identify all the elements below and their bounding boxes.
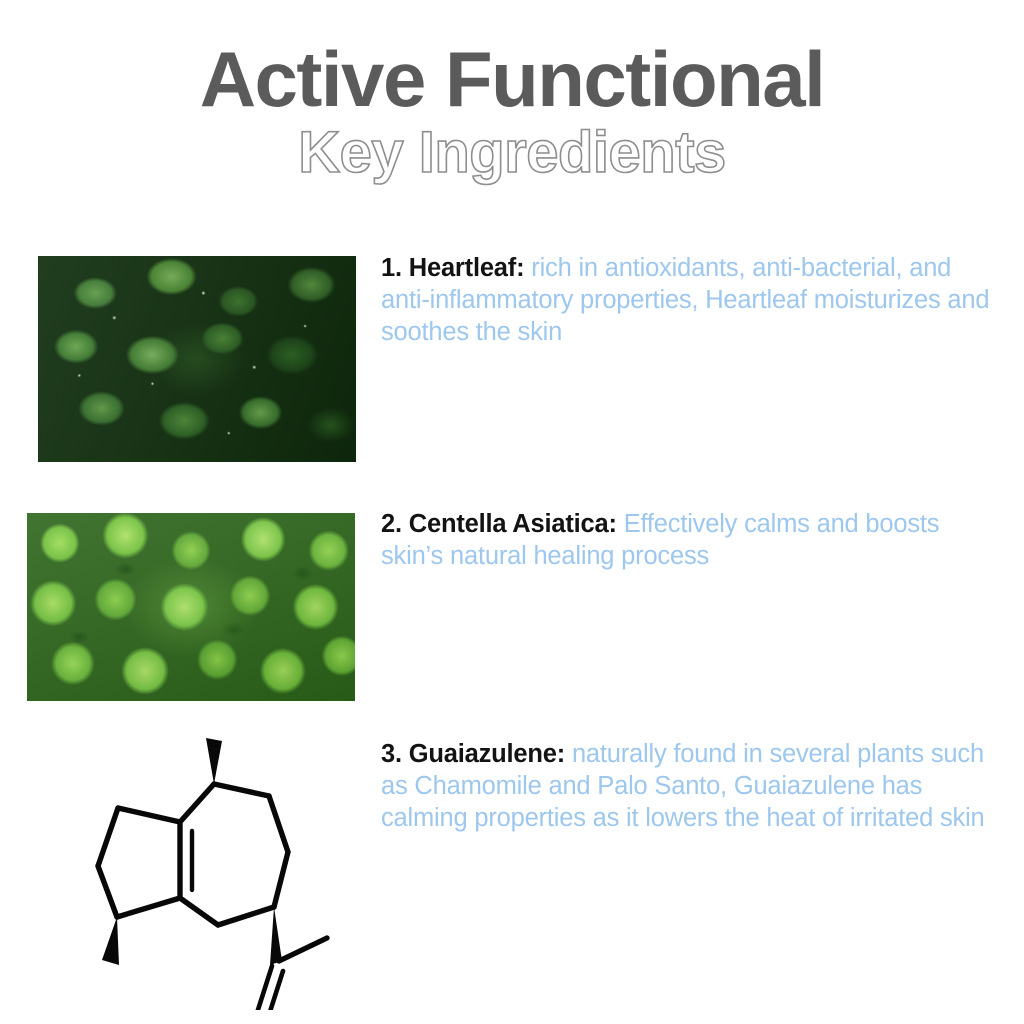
poster-header: Active Functional Key Ingredients [0, 38, 1024, 184]
centella-leaves-texture [27, 513, 355, 701]
heartleaf-leaves-texture [38, 256, 356, 462]
guaiazulene-description: 3. Guaiazulene: naturally found in sever… [381, 738, 996, 834]
centella-asiatica-label: 2. Centella Asiatica: [381, 510, 617, 538]
heartleaf-plant-photo [38, 256, 356, 462]
guaiazulene-structure-icon [60, 735, 360, 1010]
guaiazulene-label: 3. Guaiazulene: [381, 740, 565, 768]
centella-asiatica-plant-photo [27, 513, 355, 701]
heartleaf-label: 1. Heartleaf: [381, 254, 524, 282]
centella-asiatica-description: 2. Centella Asiatica: Effectively calms … [381, 508, 996, 572]
guaiazulene-chemical-structure [60, 735, 360, 1010]
page-title: Active Functional [0, 38, 1024, 120]
page-subtitle: Key Ingredients [0, 122, 1024, 184]
heartleaf-description: 1. Heartleaf: rich in antioxidants, anti… [381, 252, 991, 348]
poster-canvas: Active Functional Key Ingredients 1. Hea… [0, 0, 1024, 1024]
